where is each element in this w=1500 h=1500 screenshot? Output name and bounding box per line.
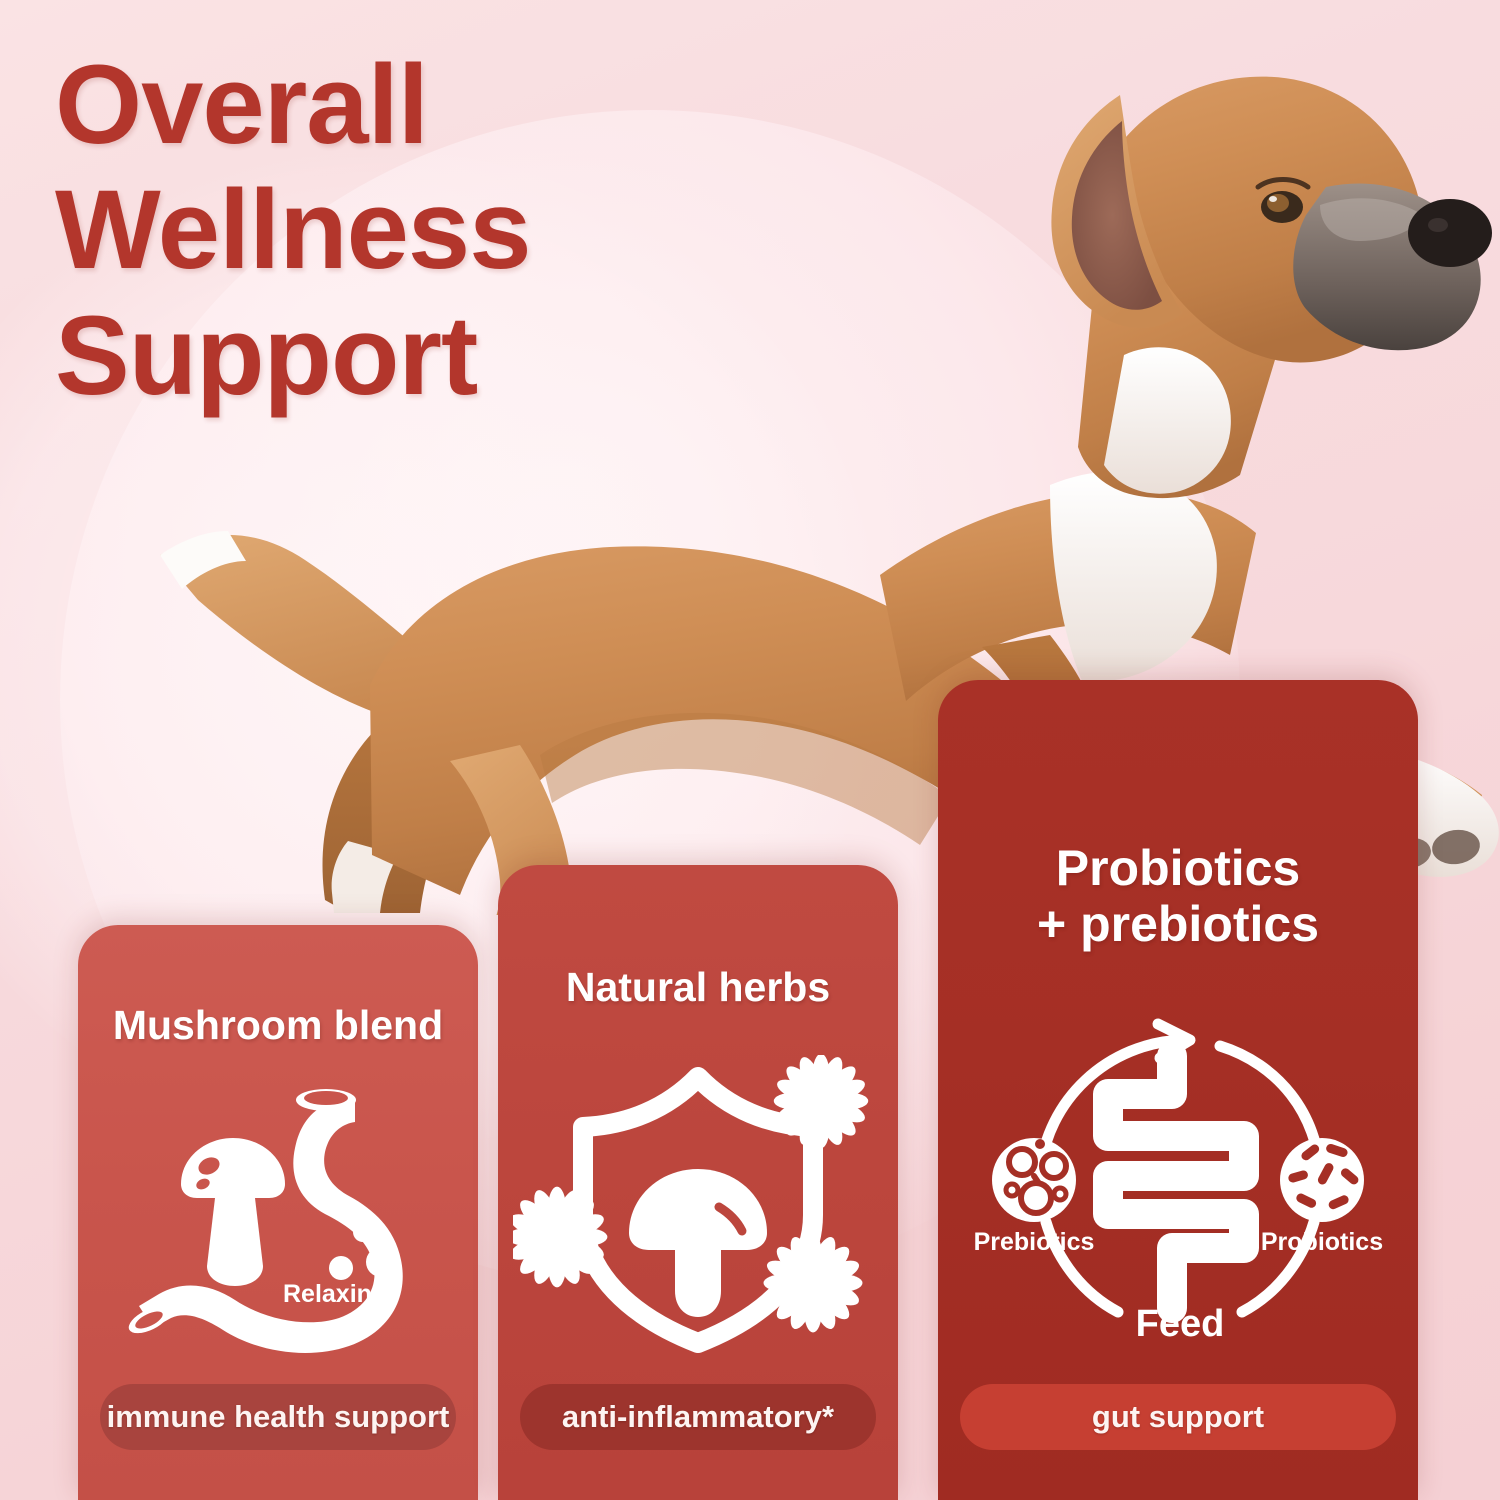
stomach-mushroom-icon: Relaxing: [78, 1080, 478, 1370]
prebiotics-molecule-icon: [992, 1138, 1076, 1222]
feature-card-probiotics-prebiotics[interactable]: Probiotics + prebiotics: [938, 680, 1418, 1500]
page-title: Overall Wellness Support: [55, 42, 715, 418]
badge-immune-health-support: immune health support: [100, 1384, 456, 1450]
shield-mushroom-icon: [498, 1055, 898, 1355]
card-title-mushroom-blend: Mushroom blend: [78, 1003, 478, 1049]
product-infographic: Overall Wellness Support: [0, 0, 1500, 1500]
icon-label-feed: Feed: [1136, 1303, 1225, 1345]
badge-anti-inflammatory: anti-inflammatory*: [520, 1384, 876, 1450]
card-title-natural-herbs: Natural herbs: [498, 965, 898, 1011]
feature-card-mushroom-blend[interactable]: Mushroom blend Re: [78, 925, 478, 1500]
feature-card-natural-herbs[interactable]: Natural herbs: [498, 865, 898, 1500]
icon-label-prebiotics: Prebiotics: [974, 1228, 1095, 1256]
gut-cycle-icon: Prebiotics Probiotics: [938, 990, 1418, 1360]
icon-label-relaxing: Relaxing: [283, 1280, 387, 1308]
icon-label-probiotics: Probiotics: [1261, 1228, 1383, 1256]
card-title-probiotics-prebiotics: Probiotics + prebiotics: [938, 840, 1418, 952]
badge-gut-support: gut support: [960, 1384, 1396, 1450]
probiotics-bacteria-icon: [1280, 1138, 1364, 1222]
